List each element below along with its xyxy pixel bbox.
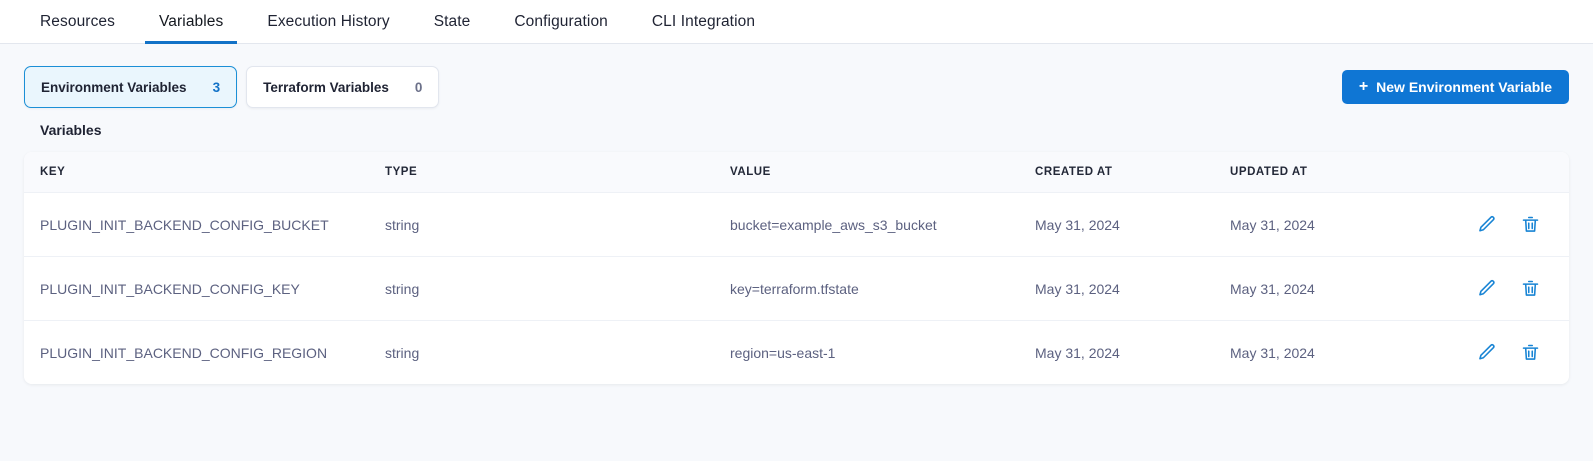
table-row[interactable]: PLUGIN_INIT_BACKEND_CONFIG_KEY string ke… xyxy=(24,256,1569,320)
edit-pencil-icon[interactable] xyxy=(1475,342,1497,364)
variable-type-filter-group: Environment Variables 3 Terraform Variab… xyxy=(24,66,439,108)
cell-updated-at: May 31, 2024 xyxy=(1230,217,1475,233)
tab-variables[interactable]: Variables xyxy=(137,0,245,43)
tab-state[interactable]: State xyxy=(412,0,493,43)
cell-created-at: May 31, 2024 xyxy=(1035,345,1230,361)
column-header-value: VALUE xyxy=(730,166,1035,178)
new-environment-variable-button[interactable]: + New Environment Variable xyxy=(1342,70,1569,104)
tab-label: CLI Integration xyxy=(652,13,755,31)
cell-value: region=us-east-1 xyxy=(730,345,1035,361)
column-header-key: KEY xyxy=(40,166,385,178)
column-header-type: TYPE xyxy=(385,166,730,178)
cell-value: bucket=example_aws_s3_bucket xyxy=(730,217,1035,233)
tab-execution-history[interactable]: Execution History xyxy=(245,0,411,43)
cell-type: string xyxy=(385,217,730,233)
variables-toolbar: Environment Variables 3 Terraform Variab… xyxy=(24,66,1569,108)
variables-page: Environment Variables 3 Terraform Variab… xyxy=(0,44,1593,384)
tab-cli-integration[interactable]: CLI Integration xyxy=(630,0,777,43)
filter-terraform-variables[interactable]: Terraform Variables 0 xyxy=(246,66,439,108)
cell-type: string xyxy=(385,281,730,297)
filter-label: Environment Variables xyxy=(41,80,187,95)
edit-pencil-icon[interactable] xyxy=(1475,278,1497,300)
cell-value: key=terraform.tfstate xyxy=(730,281,1035,297)
table-row[interactable]: PLUGIN_INIT_BACKEND_CONFIG_BUCKET string… xyxy=(24,192,1569,256)
main-tab-bar: Resources Variables Execution History St… xyxy=(0,0,1593,44)
tab-label: Variables xyxy=(159,13,223,31)
column-header-created-at: CREATED AT xyxy=(1035,166,1230,178)
table-row[interactable]: PLUGIN_INIT_BACKEND_CONFIG_REGION string… xyxy=(24,320,1569,384)
plus-icon: + xyxy=(1359,79,1368,95)
tab-label: Execution History xyxy=(267,13,389,31)
filter-count-badge: 0 xyxy=(415,80,423,95)
filter-environment-variables[interactable]: Environment Variables 3 xyxy=(24,66,237,108)
cell-created-at: May 31, 2024 xyxy=(1035,281,1230,297)
tab-resources[interactable]: Resources xyxy=(18,0,137,43)
trash-icon[interactable] xyxy=(1519,342,1541,364)
row-actions xyxy=(1475,214,1559,236)
trash-icon[interactable] xyxy=(1519,214,1541,236)
new-environment-variable-label: New Environment Variable xyxy=(1376,79,1552,95)
cell-created-at: May 31, 2024 xyxy=(1035,217,1230,233)
tab-label: Resources xyxy=(40,13,115,31)
cell-key: PLUGIN_INIT_BACKEND_CONFIG_REGION xyxy=(40,345,385,361)
filter-count-badge: 3 xyxy=(213,80,221,95)
tab-label: State xyxy=(434,13,471,31)
edit-pencil-icon[interactable] xyxy=(1475,214,1497,236)
trash-icon[interactable] xyxy=(1519,278,1541,300)
cell-key: PLUGIN_INIT_BACKEND_CONFIG_BUCKET xyxy=(40,217,385,233)
section-title: Variables xyxy=(40,122,1569,138)
variables-table: KEY TYPE VALUE CREATED AT UPDATED AT PLU… xyxy=(24,152,1569,384)
row-actions xyxy=(1475,278,1559,300)
cell-type: string xyxy=(385,345,730,361)
cell-updated-at: May 31, 2024 xyxy=(1230,345,1475,361)
tab-configuration[interactable]: Configuration xyxy=(492,0,630,43)
cell-key: PLUGIN_INIT_BACKEND_CONFIG_KEY xyxy=(40,281,385,297)
table-header-row: KEY TYPE VALUE CREATED AT UPDATED AT xyxy=(24,152,1569,192)
row-actions xyxy=(1475,342,1559,364)
column-header-updated-at: UPDATED AT xyxy=(1230,166,1475,178)
filter-label: Terraform Variables xyxy=(263,80,389,95)
cell-updated-at: May 31, 2024 xyxy=(1230,281,1475,297)
tab-label: Configuration xyxy=(514,13,608,31)
